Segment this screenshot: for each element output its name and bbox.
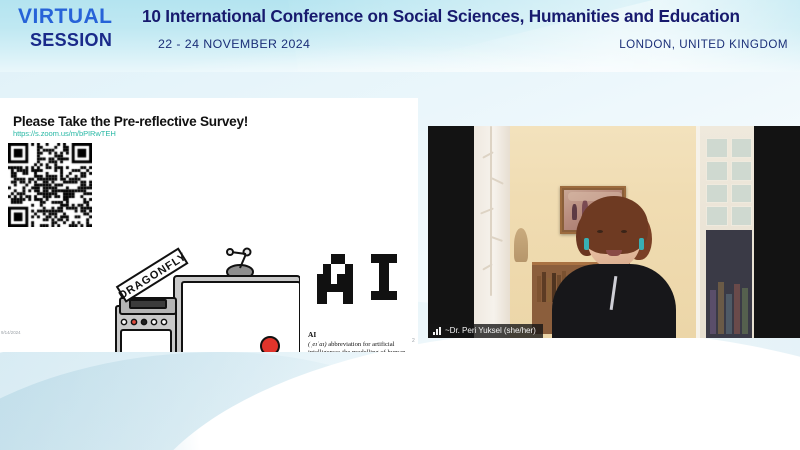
participant-video-tile[interactable]: ~Dr. Peri Yuksel (she/her) xyxy=(428,126,800,338)
door-window xyxy=(696,126,754,338)
virtual-session-logo: VIRTUAL SESSION xyxy=(18,6,138,49)
angel-statue xyxy=(514,228,528,262)
brand-line-session: SESSION xyxy=(18,31,138,49)
participant-name-bar: ~Dr. Peri Yuksel (she/her) xyxy=(428,324,543,338)
earring-left xyxy=(584,238,589,250)
conference-location: LONDON, UNITED KINGDOM xyxy=(619,38,788,51)
retro-computer-illustration: DRAGONFLY xyxy=(100,238,300,352)
qr-code[interactable] xyxy=(8,143,92,227)
video-letterbox-left xyxy=(428,126,474,338)
definition-pronunciation: (ˌeɪˈaɪ) xyxy=(308,341,327,348)
conference-title: 10 International Conference on Social Sc… xyxy=(142,6,800,27)
hair-top xyxy=(580,196,648,254)
video-scene xyxy=(474,126,754,338)
background-shelf-dark xyxy=(706,230,752,338)
window-curtain xyxy=(474,126,510,338)
eye-left xyxy=(597,230,603,233)
video-letterbox-right xyxy=(754,126,800,338)
signal-bars-icon xyxy=(433,327,441,335)
ai-definition: AI(ˌeɪˈaɪ) abbreviation for artificial i… xyxy=(308,330,406,352)
definition-headword: AI xyxy=(308,330,406,340)
eye-right xyxy=(621,230,627,233)
participant-name: ~Dr. Peri Yuksel (she/her) xyxy=(445,326,536,335)
slide-page-number: 2 xyxy=(412,338,415,344)
shared-slide[interactable]: 9/14/2024 2 Please Take the Pre-reflecti… xyxy=(0,98,418,352)
conference-dates: 22 - 24 NOVEMBER 2024 xyxy=(158,37,310,51)
virtual-session-screen: VIRTUAL SESSION 10 International Confere… xyxy=(0,0,800,450)
window-panes xyxy=(706,138,752,226)
conference-header: VIRTUAL SESSION 10 International Confere… xyxy=(0,0,800,72)
pixel-ai-logo xyxy=(315,250,403,313)
brand-line-virtual: VIRTUAL xyxy=(18,6,138,27)
earring-right xyxy=(639,238,644,250)
slide-title: Please Take the Pre-reflective Survey! xyxy=(13,114,248,129)
slide-footer-date: 9/14/2024 xyxy=(1,330,21,335)
survey-link[interactable]: https://s.zoom.us/m/bPIRwTEH xyxy=(13,129,116,138)
